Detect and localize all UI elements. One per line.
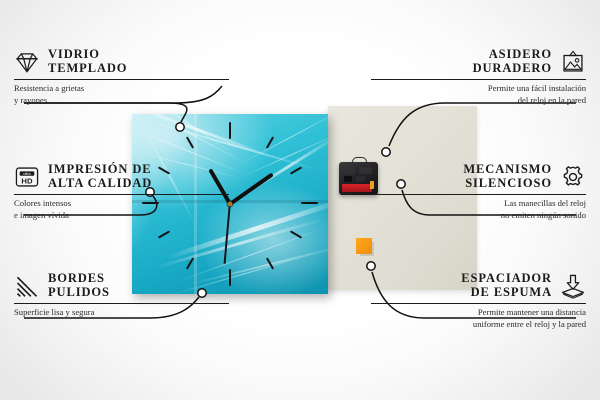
feature-title-line2: SILENCIOSO <box>463 177 552 191</box>
feature-title-line1: ESPACIADOR <box>461 272 552 286</box>
divider <box>14 303 229 304</box>
feature-description: Resistencia a grietas y rayones <box>14 83 229 106</box>
feature-title-line2: PULIDOS <box>48 286 110 300</box>
feature-title-line1: MECANISMO <box>463 163 552 177</box>
diamond-icon <box>14 49 40 75</box>
picture-frame-hanger-icon <box>560 49 586 75</box>
feature-impresion-alta-calidad: ultra HD IMPRESIÓN DE ALTA CALIDAD Color… <box>14 163 229 222</box>
feature-mecanismo-silencioso: MECANISMO SILENCIOSO Las manecillas del … <box>371 163 586 222</box>
gear-icon <box>560 164 586 190</box>
feature-bordes-pulidos: BORDES PULIDOS Superficie lisa y segura <box>14 272 229 319</box>
divider <box>14 194 229 195</box>
infographic-canvas: VIDRIO TEMPLADO Resistencia a grietas y … <box>0 0 600 400</box>
clock-tick <box>229 122 231 139</box>
feature-asidero-duradero: ASIDERO DURADERO Permite una fácil insta… <box>371 48 586 107</box>
foam-spacer-arrow-icon <box>560 273 586 299</box>
feature-title-line1: ASIDERO <box>473 48 552 62</box>
clock-tick <box>301 202 318 204</box>
divider <box>371 303 586 304</box>
battery <box>342 184 372 192</box>
feature-description: Superficie lisa y segura <box>14 307 229 319</box>
feature-title-line2: DURADERO <box>473 62 552 76</box>
feature-title-line2: DE ESPUMA <box>461 286 552 300</box>
divider <box>371 79 586 80</box>
feature-title-line1: BORDES <box>48 272 110 286</box>
feature-vidrio-templado: VIDRIO TEMPLADO Resistencia a grietas y … <box>14 48 229 107</box>
clock-tick <box>186 136 194 148</box>
feature-description: Colores intensos e imagen vívida <box>14 198 229 221</box>
divider <box>371 194 586 195</box>
feature-title-line2: TEMPLADO <box>48 62 127 76</box>
svg-text:ultra: ultra <box>23 171 31 175</box>
feature-description: Permite mantener una distancia uniforme … <box>371 307 586 330</box>
svg-text:HD: HD <box>21 176 33 185</box>
ultra-hd-badge-icon: ultra HD <box>14 164 40 190</box>
divider <box>14 79 229 80</box>
feature-title-line1: VIDRIO <box>48 48 127 62</box>
foam-spacer <box>356 238 372 254</box>
feature-description: Permite una fácil instalación del reloj … <box>371 83 586 106</box>
feature-espaciador-espuma: ESPACIADOR DE ESPUMA Permite mantener un… <box>371 272 586 331</box>
feature-title-line2: ALTA CALIDAD <box>48 177 152 191</box>
clock-tick <box>290 166 302 174</box>
feature-title-line1: IMPRESIÓN DE <box>48 163 152 177</box>
clock-tick <box>158 230 170 238</box>
clock-tick <box>229 269 231 286</box>
polished-edges-icon <box>14 273 40 299</box>
feature-description: Las manecillas del reloj no emiten ningú… <box>371 198 586 221</box>
